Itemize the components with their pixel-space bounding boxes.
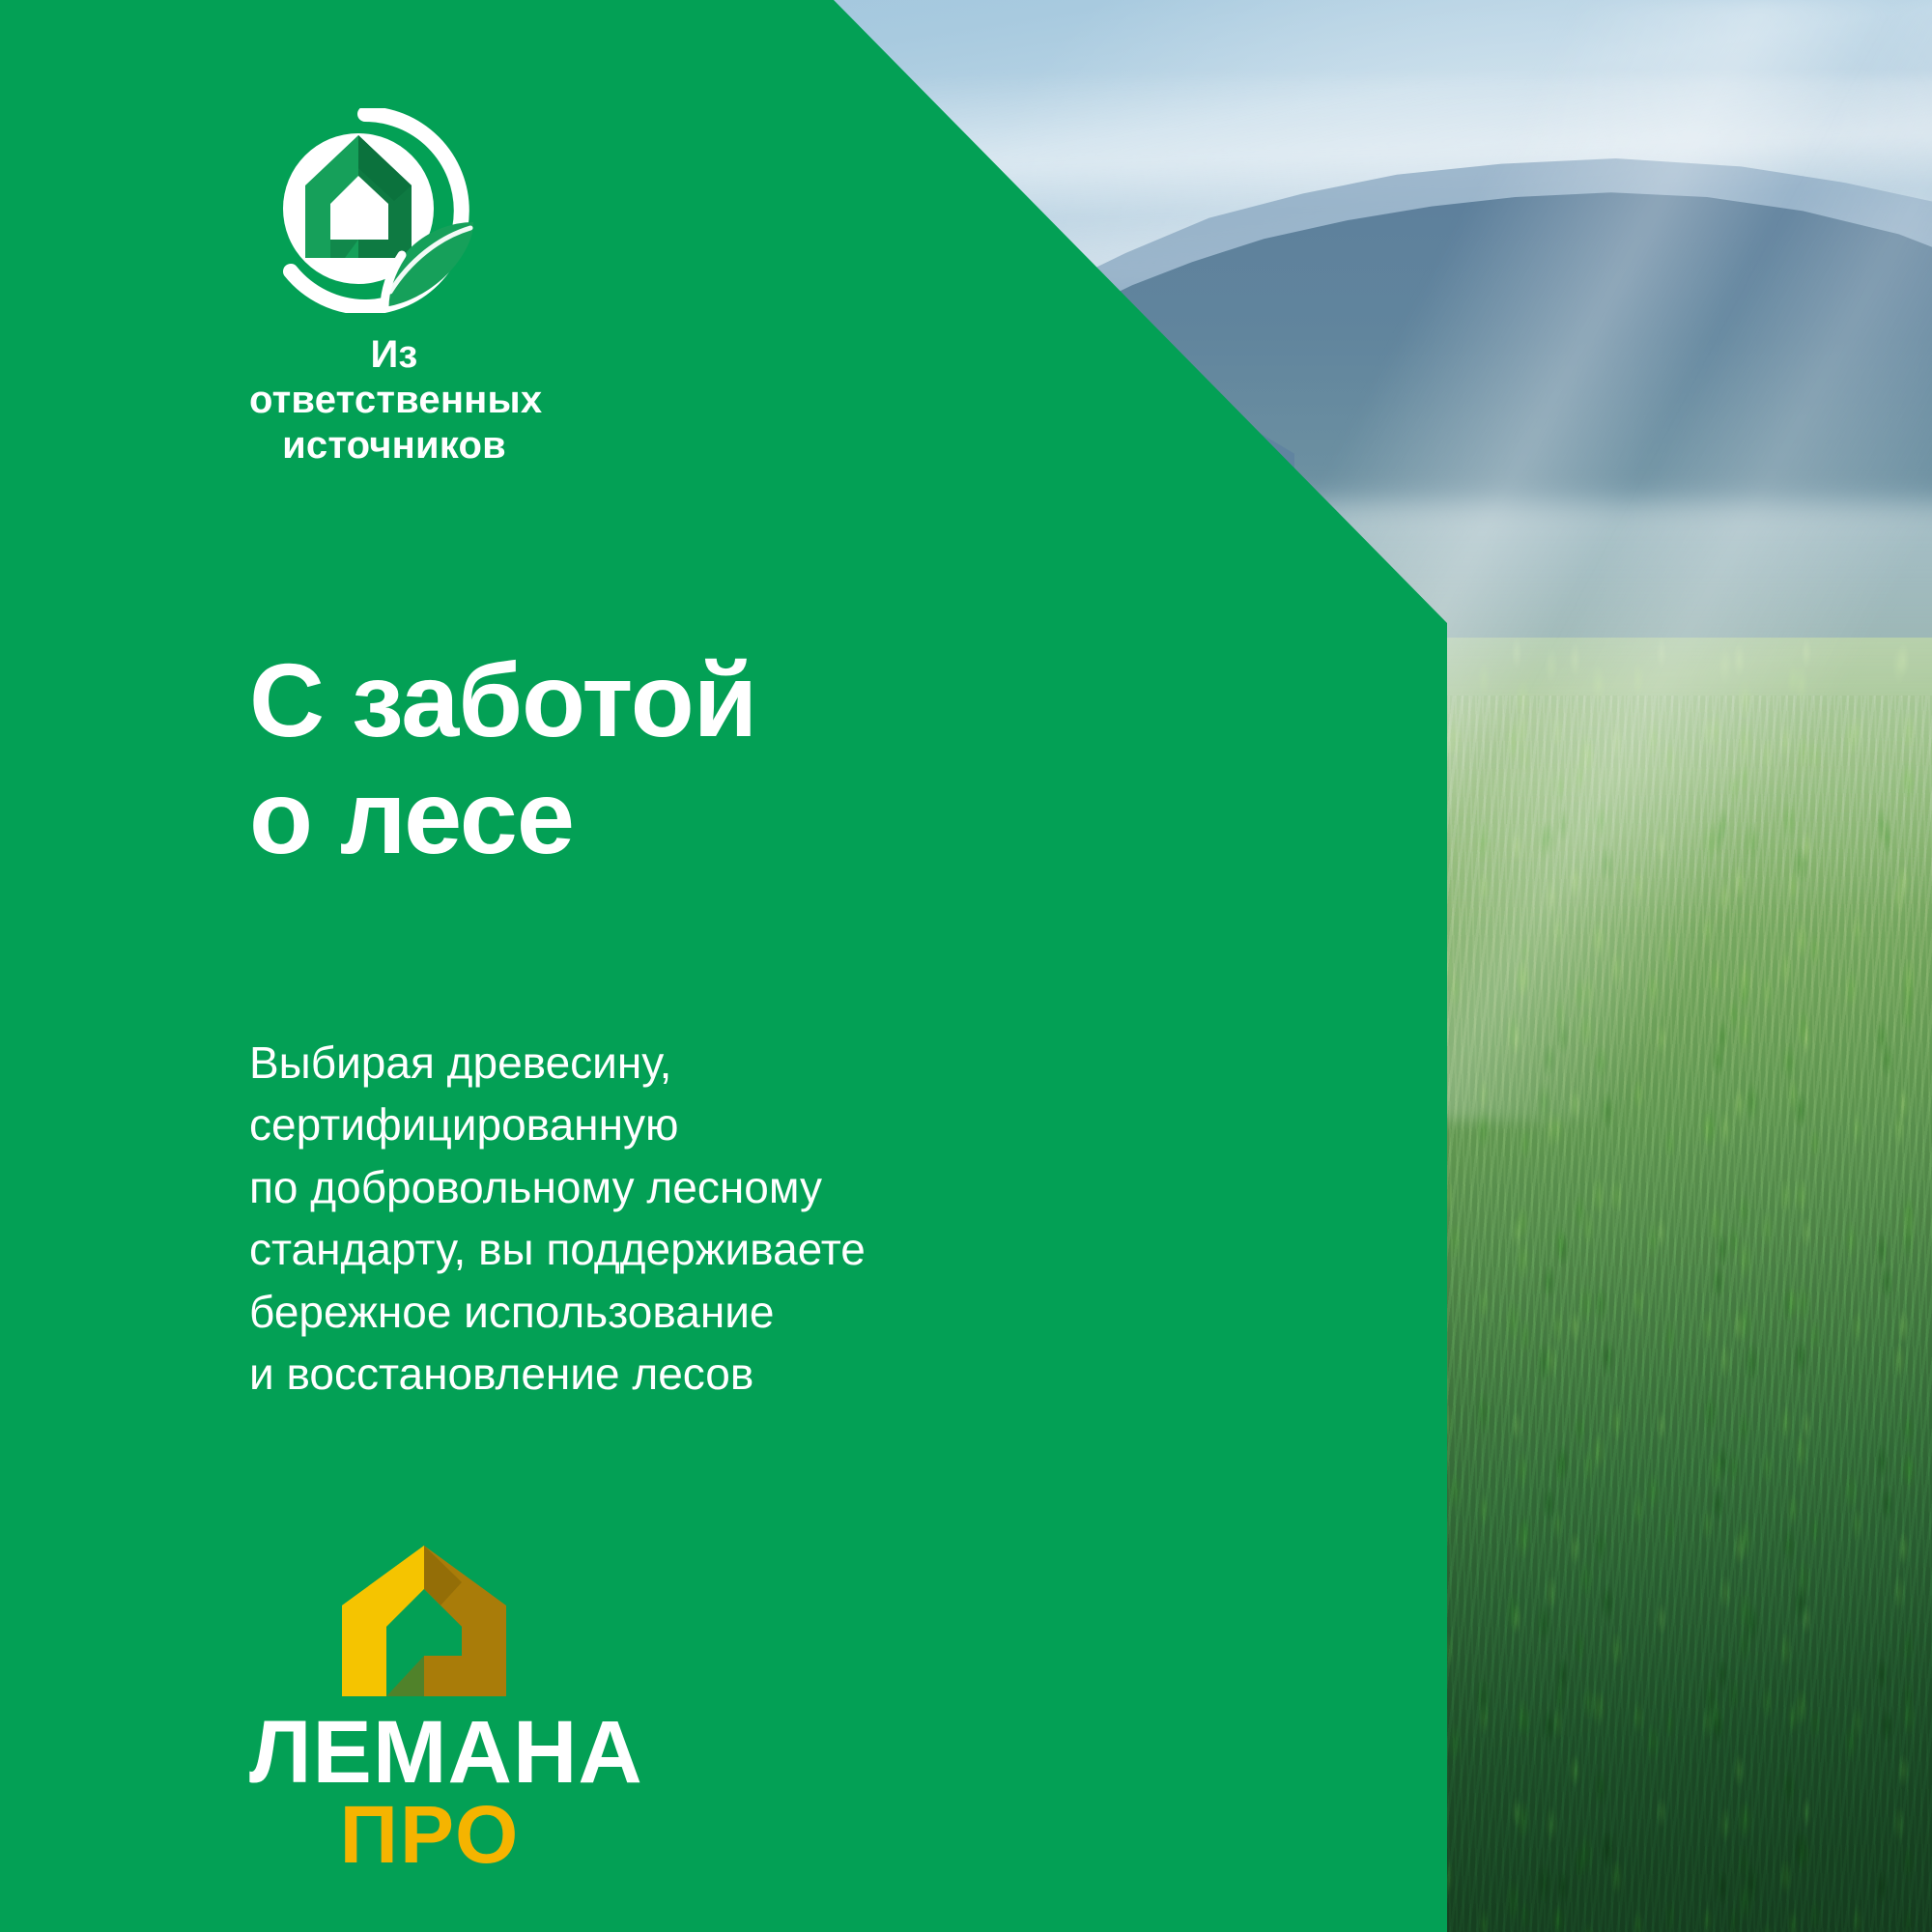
poster: Из ответственных источников С заботой о … [0,0,1932,1932]
brand-name: ЛЕМАНА [249,1710,655,1795]
eco-badge-caption: Из ответственных источников [249,332,539,469]
body-paragraph: Выбирая древесину, сертифицированную по … [249,1032,866,1405]
page-title: С заботой о лесе [249,642,756,876]
eco-house-leaf-circle-icon [249,108,481,313]
brand-suffix: ПРО [270,1795,589,1874]
lemana-house-icon [315,1542,537,1704]
poster-content: Из ответственных источников С заботой о … [0,0,1932,1932]
brand-logo: ЛЕМАНА ПРО [249,1542,655,1875]
eco-badge: Из ответственных источников [249,108,713,469]
